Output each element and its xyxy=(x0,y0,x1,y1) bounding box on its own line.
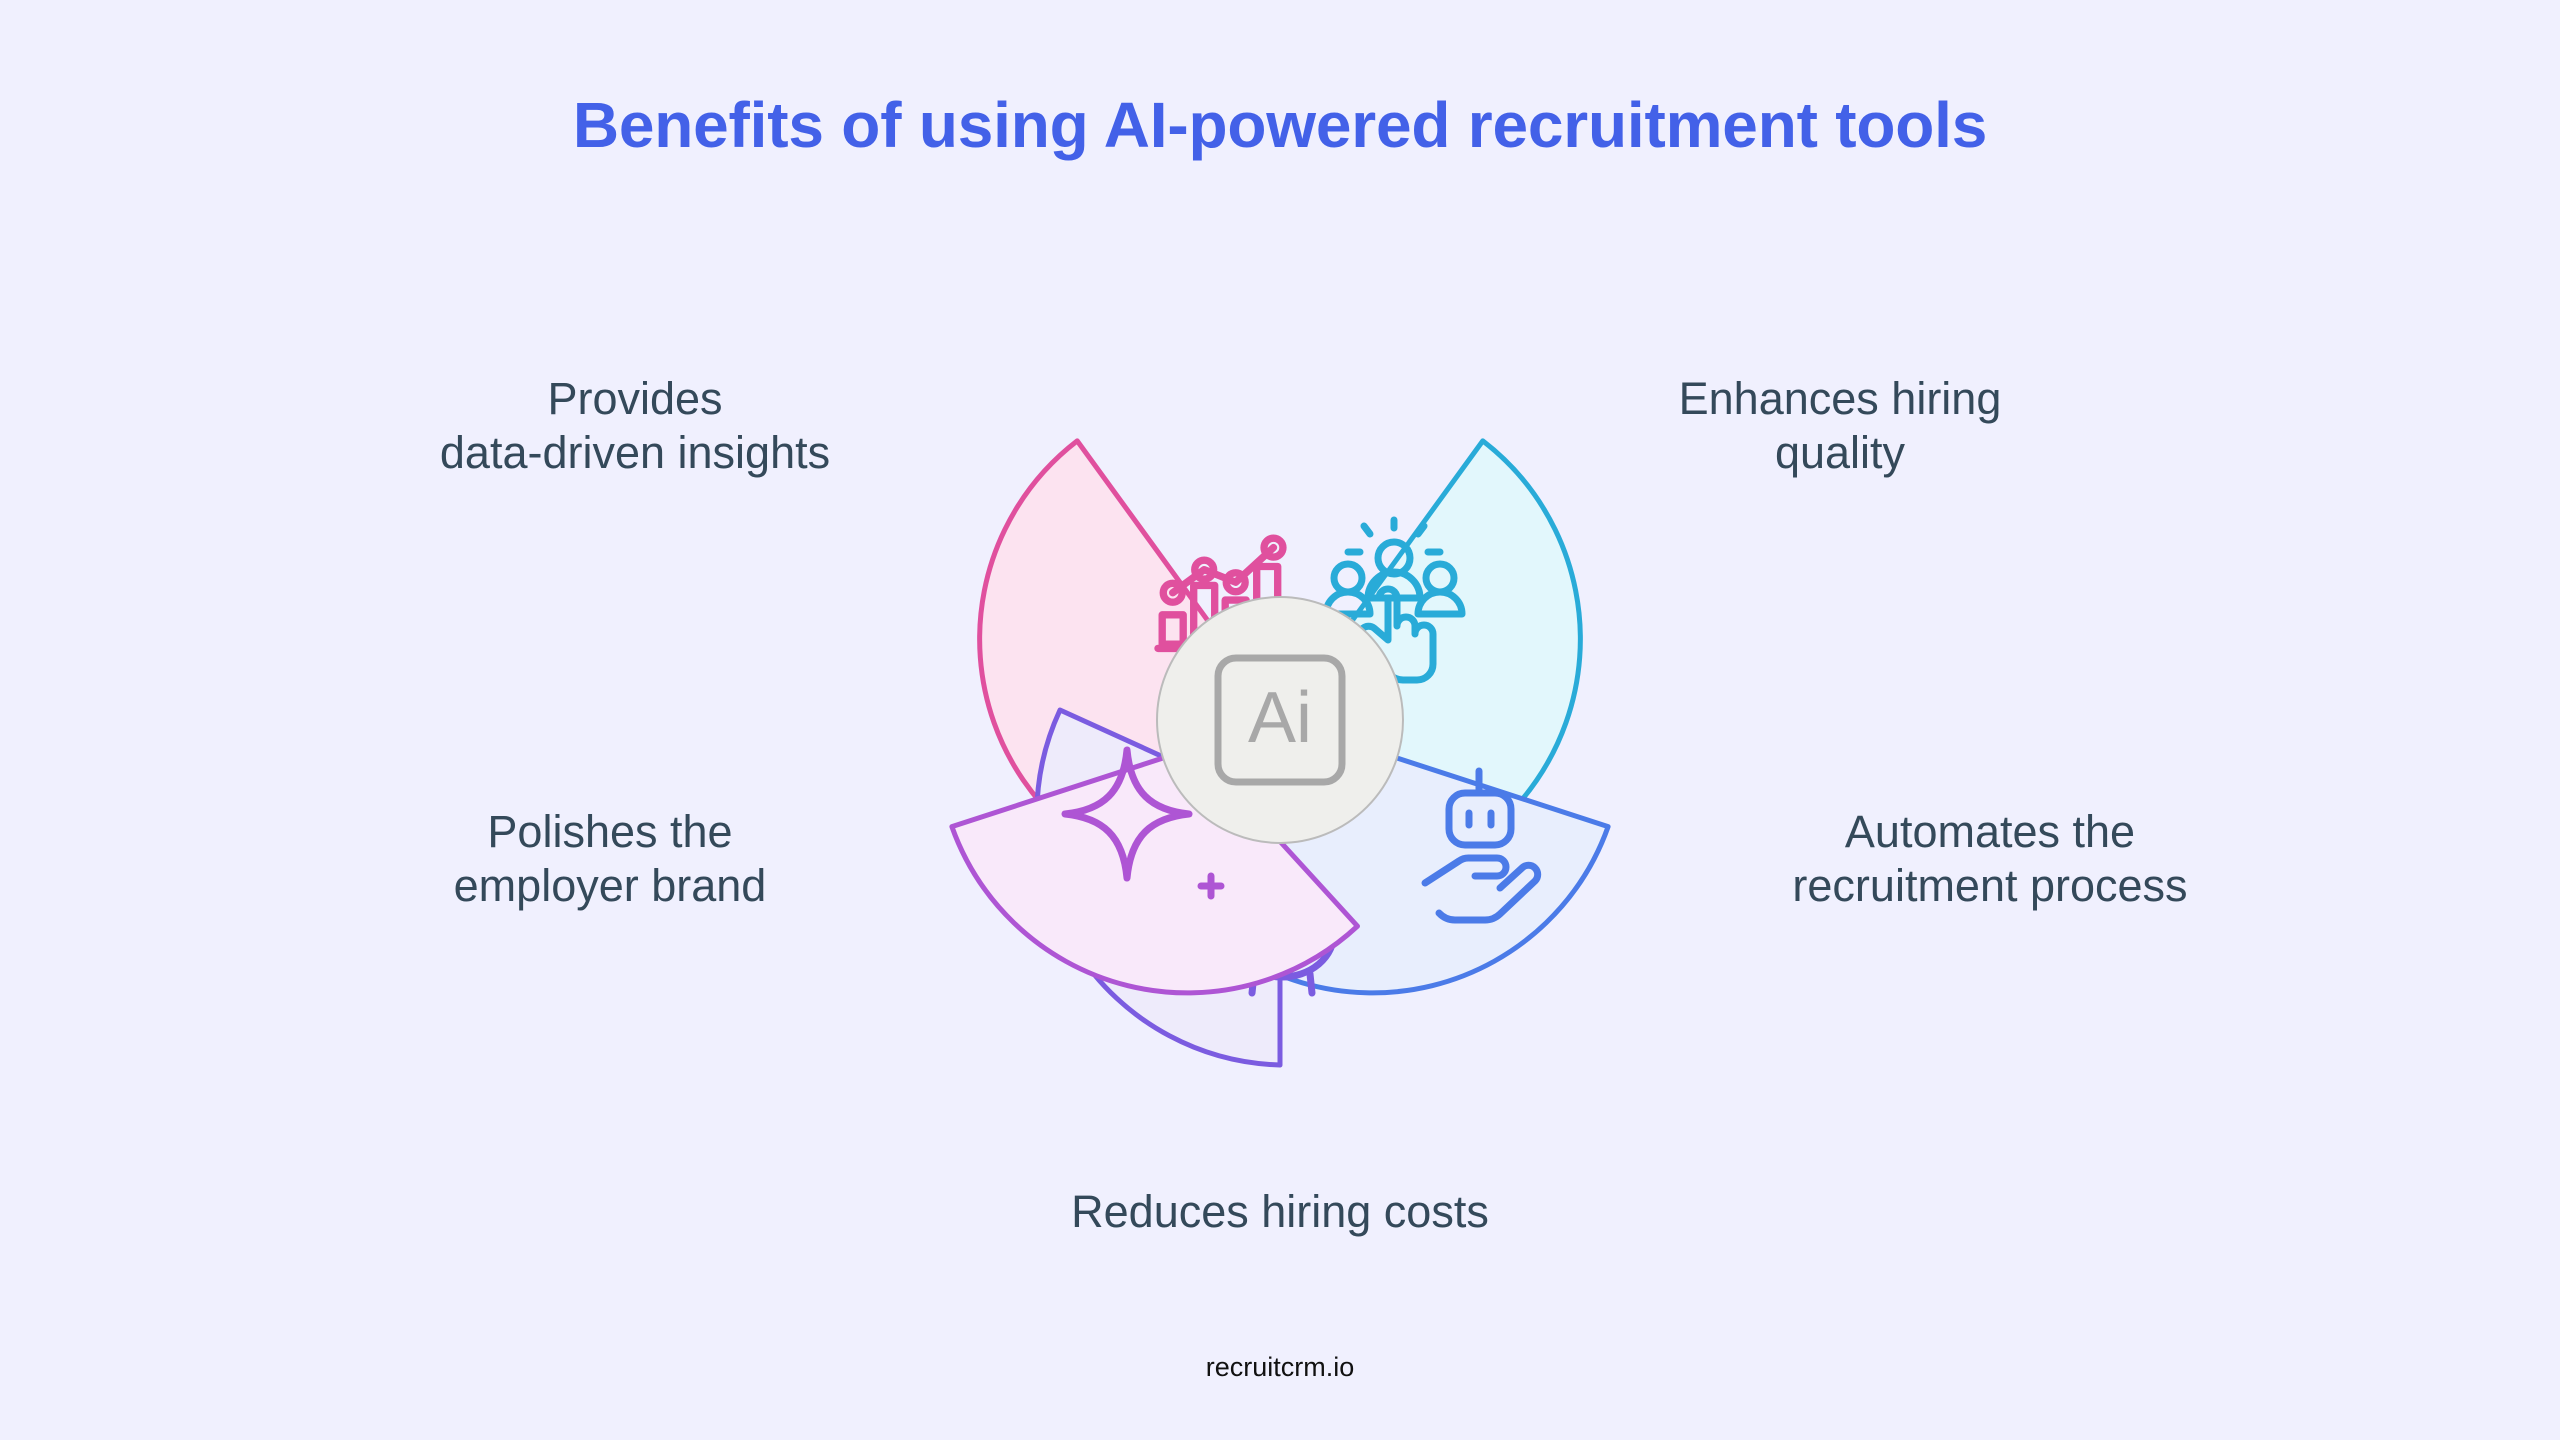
label-quality-line-2: quality xyxy=(1560,426,2120,480)
label-insights-line-2: data-driven insights xyxy=(330,426,940,480)
label-brand: Polishes the employer brand xyxy=(330,805,890,913)
infographic-canvas: Benefits of using AI-powered recruitment… xyxy=(0,0,2560,1440)
label-insights-line-1: Provides xyxy=(330,372,940,426)
center-hub: Ai xyxy=(1157,597,1403,843)
label-automates: Automates the recruitment process xyxy=(1660,805,2320,913)
label-brand-line-2: employer brand xyxy=(330,859,890,913)
label-brand-line-1: Polishes the xyxy=(330,805,890,859)
label-insights: Provides data-driven insights xyxy=(330,372,940,480)
hub-ai-label: Ai xyxy=(1248,678,1312,758)
page-title: Benefits of using AI-powered recruitment… xyxy=(0,88,2560,162)
label-quality-line-1: Enhances hiring xyxy=(1560,372,2120,426)
label-costs-line-1: Reduces hiring costs xyxy=(900,1185,1660,1239)
label-automates-line-2: recruitment process xyxy=(1660,859,2320,913)
footer-brand: recruitcrm.io xyxy=(0,1352,2560,1383)
label-quality: Enhances hiring quality xyxy=(1560,372,2120,480)
label-automates-line-1: Automates the xyxy=(1660,805,2320,859)
label-costs: Reduces hiring costs xyxy=(900,1185,1660,1239)
